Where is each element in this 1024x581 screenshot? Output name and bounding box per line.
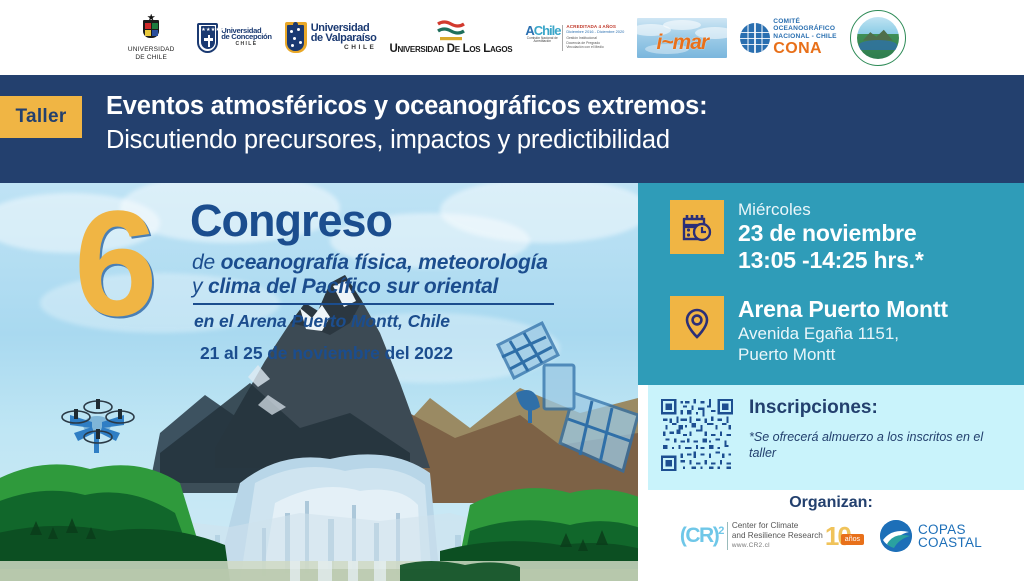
event-venue: Arena Puerto Montt <box>738 296 948 323</box>
udec-line3: CHILE <box>221 41 272 48</box>
registration-panel: Inscripciones: *Se ofrecerá almuerzo a l… <box>648 385 1024 490</box>
congress-subtitle-line2-lead: y <box>192 275 208 298</box>
cr2-url: www.CR2.cl <box>732 541 823 551</box>
taller-badge-label: Taller <box>15 106 66 128</box>
congress-subtitle-line1: de oceanografía física, meteorología <box>192 251 548 275</box>
ull-label: Universidad De Los Lagos <box>389 43 512 55</box>
logo-universidad-de-chile: UNIVERSIDAD DE CHILE <box>118 14 184 62</box>
logo-congreso-seal <box>850 10 906 66</box>
cona-line2: OCEANOGRÁFICO <box>773 25 837 33</box>
udec-crest-icon: ★★★★★ <box>197 23 218 53</box>
logo-cona: COMITÉ OCEANOGRÁFICO NACIONAL - CHILE CO… <box>740 18 837 58</box>
cona-globe-icon <box>740 23 770 53</box>
event-date-row: Miércoles 23 de noviembre 13:05 -14:25 h… <box>670 200 924 274</box>
calendar-clock-icon <box>670 200 724 254</box>
logo-acreditacion-cna: AChile Comisión Nacional de Acreditación… <box>525 25 624 51</box>
congreso-seal-emblem-icon <box>857 17 899 59</box>
cr2-mark-superscript: 2 <box>718 525 723 537</box>
congress-number: 6 <box>74 188 157 338</box>
congress-subtitle-line1-main: oceanografía física, meteorología <box>221 251 548 274</box>
congress-venue: en el Arena Puerto Montt, Chile <box>194 311 450 332</box>
cna-mark-icon: AChile Comisión Nacional de Acreditación <box>525 25 559 44</box>
acreditacion-items: Gestión Institucional Docencia de Pregra… <box>566 36 624 49</box>
qr-code-icon[interactable] <box>661 399 733 471</box>
event-location-row: Arena Puerto Montt Avenida Egaña 1151, P… <box>670 296 948 365</box>
banner-title-line2: Discutiendo precursores, impactos y pred… <box>106 126 670 155</box>
taller-badge: Taller <box>0 96 82 138</box>
drone-icon <box>62 399 134 453</box>
udechile-crest-icon <box>140 14 162 44</box>
udechile-label: UNIVERSIDAD DE CHILE <box>128 46 175 62</box>
congress-divider <box>193 303 554 305</box>
cr2-wordmark: (CR)2 <box>680 524 723 548</box>
acreditacion-period: Diciembre 2016 - Diciembre 2020 <box>566 30 624 34</box>
uv-line1: Universidad <box>311 23 377 33</box>
congress-dates: 21 al 25 de noviembre del 2022 <box>200 343 453 364</box>
copas-wave-icon <box>880 520 912 552</box>
uv-line2: de Valparaíso <box>311 33 377 43</box>
congress-headline: 6 Congreso de oceanografía física, meteo… <box>0 183 638 383</box>
institution-logo-bar: UNIVERSIDAD DE CHILE ★★★★★ Universidad d… <box>0 0 1024 76</box>
cr2-anniversary-badge: 10 años <box>825 521 864 552</box>
cr2-anniversary-label: años <box>841 534 864 545</box>
event-day: 23 de noviembre <box>738 220 924 247</box>
congress-word: Congreso <box>190 198 392 243</box>
event-info-panel: Miércoles 23 de noviembre 13:05 -14:25 h… <box>638 183 1024 385</box>
organizers-section: Organizan: (CR)2 Center for Climate and … <box>638 490 1024 581</box>
event-city: Puerto Montt <box>738 344 948 365</box>
logo-imar: i~mar <box>637 18 727 58</box>
imar-wordmark: i~mar <box>656 31 708 55</box>
logo-universidad-de-concepcion: ★★★★★ Universidad de Concepción CHILE <box>197 23 272 53</box>
registration-label: Inscripciones: <box>749 397 878 419</box>
ull-waves-icon <box>436 20 466 42</box>
map-pin-icon <box>670 296 724 350</box>
organizers-title: Organizan: <box>638 494 1024 512</box>
event-time: 13:05 -14:25 hrs.* <box>738 247 924 274</box>
congress-subtitle-line2-main: clima del Pacífico sur oriental <box>208 275 498 298</box>
uv-line3: CHILE <box>311 43 377 53</box>
registration-note: *Se ofrecerá almuerzo a los inscritos en… <box>749 429 999 461</box>
poster: UNIVERSIDAD DE CHILE ★★★★★ Universidad d… <box>0 0 1024 581</box>
logo-copas-coastal: COPAS COASTAL <box>880 520 982 552</box>
event-street: Avenida Egaña 1151, <box>738 323 948 344</box>
event-weekday: Miércoles <box>738 200 924 220</box>
cna-sublabel: Comisión Nacional de Acreditación <box>525 37 559 44</box>
title-banner: Taller Eventos atmosféricos y oceanográf… <box>0 75 1024 183</box>
logo-universidad-de-valparaiso: Universidad de Valparaíso CHILE <box>285 22 377 53</box>
cona-line3: NACIONAL - CHILE <box>773 33 837 41</box>
cona-acronym: CONA <box>773 41 837 57</box>
udec-line2: de Concepción <box>221 33 272 40</box>
cr2-line2: and Resilience Research <box>732 531 823 541</box>
uv-crest-icon <box>285 22 307 53</box>
congress-subtitle-line2: y clima del Pacífico sur oriental <box>192 275 498 299</box>
copas-line2: COASTAL <box>918 536 982 549</box>
cr2-line1: Center for Climate <box>732 521 823 531</box>
logo-cr2: (CR)2 Center for Climate and Resilience … <box>680 521 864 552</box>
banner-title-line1: Eventos atmosféricos y oceanográficos ex… <box>106 92 707 121</box>
cr2-mark-text: (CR) <box>680 524 718 547</box>
logo-universidad-de-los-lagos: Universidad De Los Lagos <box>389 20 512 55</box>
congress-subtitle-line1-lead: de <box>192 251 221 274</box>
